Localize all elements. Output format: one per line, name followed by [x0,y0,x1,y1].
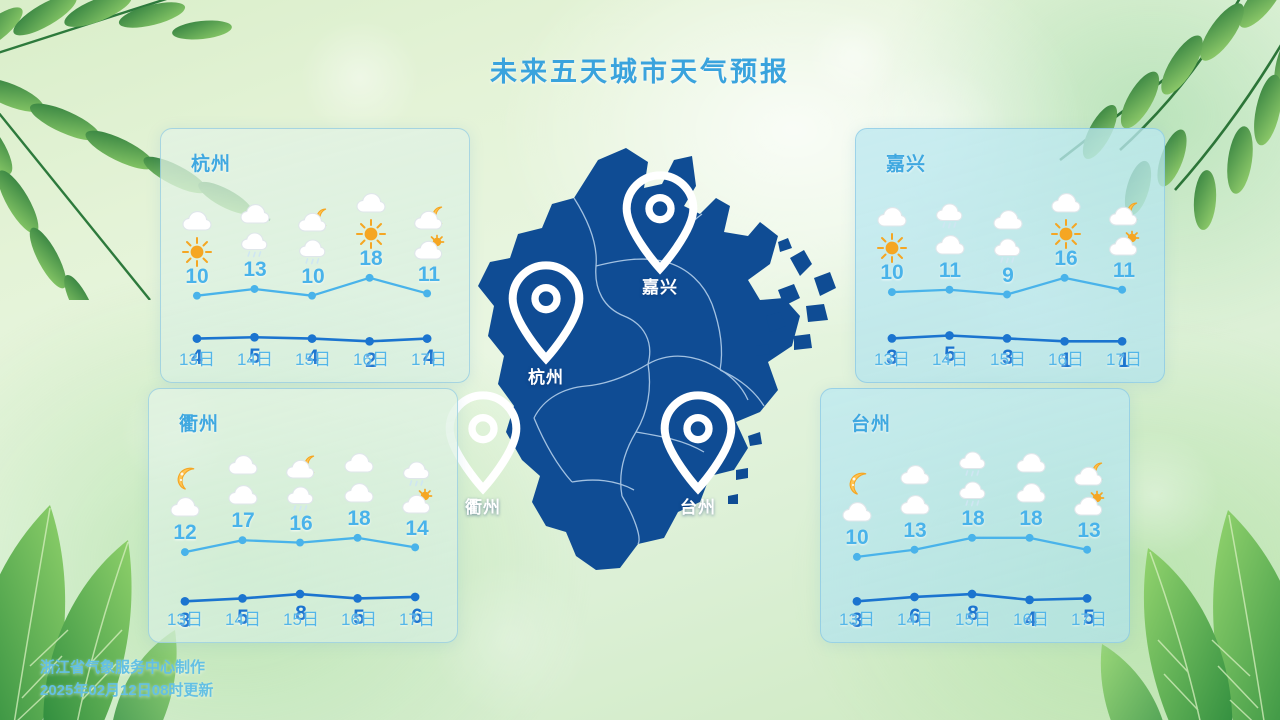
rain-icon [956,447,990,475]
zhejiang-map: 嘉兴 杭州 衢州 台州 [448,140,848,640]
forecast-day-column: 16815日 [272,389,330,642]
forecast-day-column: 11417日 [400,129,458,382]
rain-icon [296,235,330,263]
day-label: 14日 [226,345,284,370]
weather-icon-group [388,457,446,515]
partly-cloudy-night-icon [1107,199,1141,227]
high-temperature: 17 [214,509,272,533]
forecast-day-column: 11117日 [1095,129,1153,382]
day-label: 14日 [886,605,944,630]
day-label: 17日 [1060,605,1118,630]
weather-icon-group [1060,459,1118,517]
high-temperature: 18 [342,247,400,271]
high-temperature: 11 [1095,259,1153,283]
day-label: 16日 [1037,345,1095,370]
cloudy-icon [226,479,260,507]
forecast-panel-taizhou: 台州 10313日13614日 18815日18416日 13517日 [820,388,1130,643]
footer-line-1: 浙江省气象服务中心制作 [40,656,213,679]
high-temperature: 13 [886,519,944,543]
day-label: 13日 [828,605,886,630]
day-label: 15日 [944,605,1002,630]
cloudy-icon [991,204,1025,232]
forecast-day-column: 18815日 [944,389,1002,642]
forecast-chart: 10413日 13514日 10415日 18216日 11417日 [161,129,469,382]
day-label: 17日 [1095,345,1153,370]
weather-icon-group [226,198,284,256]
weather-icon-group [284,205,342,263]
weather-icon-group [1095,199,1153,257]
day-label: 16日 [1002,605,1060,630]
cloudy-icon [1014,477,1048,505]
weather-icon-group [342,187,400,245]
high-temperature: 13 [1060,519,1118,543]
forecast-day-column: 10313日 [828,389,886,642]
forecast-day-column: 10413日 [168,129,226,382]
forecast-day-column: 14617日 [388,389,446,642]
weather-icon-group [214,449,272,507]
high-temperature: 12 [156,521,214,545]
day-label: 14日 [921,345,979,370]
weather-icon-group [886,459,944,517]
day-label: 17日 [400,345,458,370]
high-temperature: 10 [168,265,226,289]
partly-cloudy-night-icon [1072,459,1106,487]
weather-icon-group [400,203,458,261]
high-temperature: 18 [1002,507,1060,531]
weather-icon-group [156,461,214,519]
weather-icon-group [272,452,330,510]
weather-icon-group [863,201,921,259]
day-label: 15日 [272,605,330,630]
weather-icon-group [330,447,388,505]
day-label: 16日 [330,605,388,630]
day-label: 13日 [156,605,214,630]
forecast-day-column: 17514日 [214,389,272,642]
forecast-day-column: 18416日 [1002,389,1060,642]
high-temperature: 16 [1037,247,1095,271]
cloudy-icon [1014,447,1048,475]
cloudy-icon [238,198,272,226]
cloudy-icon [168,491,202,519]
moon-icon [840,466,874,494]
forecast-day-column: 10415日 [284,129,342,382]
forecast-day-column: 18516日 [330,389,388,642]
forecast-day-column: 12313日 [156,389,214,642]
moon-icon [168,461,202,489]
day-label: 13日 [863,345,921,370]
rain-icon [956,477,990,505]
forecast-chart: 10313日 11514日 9315日 16116日 11117日 [856,129,1164,382]
weather-icon-group [979,204,1037,262]
partly-cloudy-day-icon [1107,229,1141,257]
forecast-chart: 10313日13614日 18815日18416日 13517日 [821,389,1129,642]
rain-icon [284,482,318,510]
forecast-day-column: 13517日 [1060,389,1118,642]
partly-cloudy-night-icon [296,205,330,233]
cloudy-icon [840,496,874,524]
cloudy-icon [898,489,932,517]
cloudy-icon [875,201,909,229]
sunny-icon [354,217,388,245]
partly-cloudy-day-icon [400,487,434,515]
day-label: 15日 [284,345,342,370]
forecast-day-column: 10313日 [863,129,921,382]
forecast-day-column: 9315日 [979,129,1037,382]
high-temperature: 14 [388,517,446,541]
high-temperature: 11 [400,263,458,287]
high-temperature: 13 [226,258,284,282]
day-label: 15日 [979,345,1037,370]
day-label: 17日 [388,605,446,630]
day-label: 13日 [168,345,226,370]
sunny-icon [875,231,909,259]
forecast-panel-hangzhou: 杭州 10413日 13514日 10415日 18216日 [160,128,470,383]
forecast-panel-jiaxing: 嘉兴 10313日 11514日 9315日 16116日 [855,128,1165,383]
high-temperature: 10 [284,265,342,289]
forecast-day-column: 18216日 [342,129,400,382]
cloudy-icon [342,447,376,475]
cloudy-icon [180,205,214,233]
weather-icon-group [828,466,886,524]
forecast-day-column: 11514日 [921,129,979,382]
rain-icon [238,228,272,256]
cloudy-icon [342,477,376,505]
footer-line-2: 2025年02月12日08时更新 [40,679,213,702]
high-temperature: 18 [944,507,1002,531]
sunny-icon [180,235,214,263]
high-temperature: 18 [330,507,388,531]
high-temperature: 9 [979,264,1037,288]
forecast-day-column: 16116日 [1037,129,1095,382]
forecast-chart: 12313日17514日 16815日18516日 14617日 [149,389,457,642]
partly-cloudy-day-icon [412,233,446,261]
high-temperature: 16 [272,512,330,536]
cloudy-icon [1049,187,1083,215]
map-province-shape [478,148,836,570]
rain-icon [991,234,1025,262]
high-temperature: 10 [863,261,921,285]
cloudy-icon [226,449,260,477]
cloudy-icon [354,187,388,215]
page-title: 未来五天城市天气预报 [0,50,1280,89]
footer-credit: 浙江省气象服务中心制作 2025年02月12日08时更新 [40,656,213,703]
day-label: 16日 [342,345,400,370]
sunny-icon [1049,217,1083,245]
weather-icon-group [1037,187,1095,245]
partly-cloudy-night-icon [412,203,446,231]
day-label: 14日 [214,605,272,630]
high-temperature: 11 [921,259,979,283]
weather-icon-group [944,447,1002,505]
forecast-day-column: 13514日 [226,129,284,382]
weather-icon-group [1002,447,1060,505]
high-temperature: 10 [828,526,886,550]
partly-cloudy-night-icon [284,452,318,480]
map-svg [448,140,848,640]
forecast-day-column: 13614日 [886,389,944,642]
cloudy-icon [898,459,932,487]
rain-icon [933,199,967,227]
forecast-panel-quzhou: 衢州 12313日17514日 16815日18516日 14617日 [148,388,458,643]
weather-icon-group [168,205,226,263]
cloudy-icon [933,229,967,257]
weather-icon-group [921,199,979,257]
partly-cloudy-day-icon [1072,489,1106,517]
rain-icon [400,457,434,485]
